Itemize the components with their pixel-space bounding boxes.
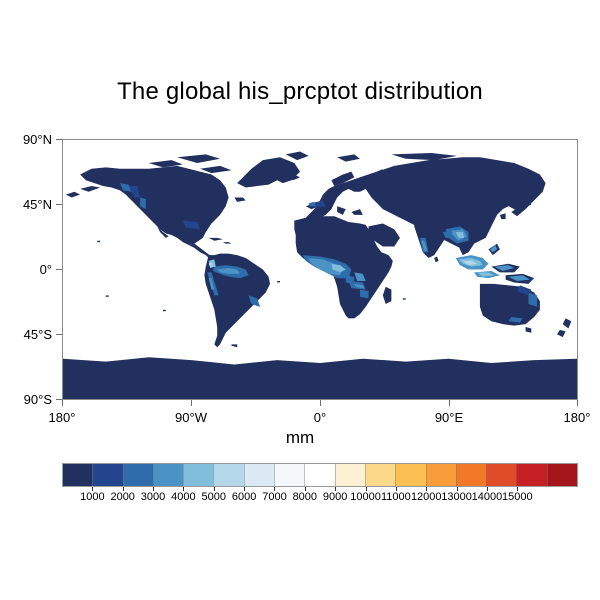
ytick-label-90s: 90°S bbox=[0, 392, 52, 407]
map-plot-area: .land{fill:#21305f;} .b2{fill:#23458e;} … bbox=[62, 139, 578, 400]
colorbar-segment-9 bbox=[335, 464, 365, 486]
ytick-label-45s: 45°S bbox=[0, 327, 52, 342]
ytick-45n bbox=[56, 204, 62, 205]
colorbar-segment-12 bbox=[426, 464, 456, 486]
xtick-label-90e: 90°E bbox=[409, 410, 489, 425]
colorbar-ticks: 1000200030004000500060007000800090001000… bbox=[62, 487, 578, 492]
xtick-0 bbox=[320, 400, 321, 406]
colorbar-segment-10 bbox=[365, 464, 395, 486]
ytick-label-45n: 45°N bbox=[0, 197, 52, 212]
xtick-label-180w: 180° bbox=[22, 410, 102, 425]
colorbar-segment-2 bbox=[123, 464, 153, 486]
xtick-label-180e: 180° bbox=[537, 410, 600, 425]
colorbar-segment-1 bbox=[92, 464, 122, 486]
colorbar-segment-11 bbox=[395, 464, 425, 486]
colorbar-segment-8 bbox=[304, 464, 334, 486]
xtick-180e bbox=[577, 400, 578, 406]
xtick-label-90w: 90°W bbox=[151, 410, 231, 425]
ytick-0 bbox=[56, 269, 62, 270]
figure-canvas: The global his_prcptot distribution .lan… bbox=[0, 0, 600, 600]
colorbar-segment-13 bbox=[456, 464, 486, 486]
colorbar-segment-15 bbox=[516, 464, 546, 486]
xtick-label-0: 0° bbox=[280, 410, 360, 425]
colorbar-label-15000: 15000 bbox=[495, 491, 539, 503]
xtick-180w bbox=[62, 400, 63, 406]
chart-title: The global his_prcptot distribution bbox=[0, 78, 600, 106]
ytick-45s bbox=[56, 334, 62, 335]
colorbar-segment-0 bbox=[63, 464, 92, 486]
xtick-90e bbox=[449, 400, 450, 406]
ytick-90n bbox=[56, 139, 62, 140]
colorbar-segment-6 bbox=[244, 464, 274, 486]
colorbar-segment-5 bbox=[213, 464, 243, 486]
ytick-label-0: 0° bbox=[0, 262, 52, 277]
world-map: .land{fill:#21305f;} .b2{fill:#23458e;} … bbox=[63, 140, 577, 399]
xtick-90w bbox=[191, 400, 192, 406]
colorbar-segment-16 bbox=[547, 464, 577, 486]
colorbar-segment-7 bbox=[274, 464, 304, 486]
ytick-label-90n: 90°N bbox=[0, 132, 52, 147]
colorbar[interactable] bbox=[62, 463, 578, 487]
colorbar-segment-14 bbox=[486, 464, 516, 486]
unit-label: mm bbox=[0, 428, 600, 448]
colorbar-segment-4 bbox=[183, 464, 213, 486]
colorbar-segment-3 bbox=[153, 464, 183, 486]
